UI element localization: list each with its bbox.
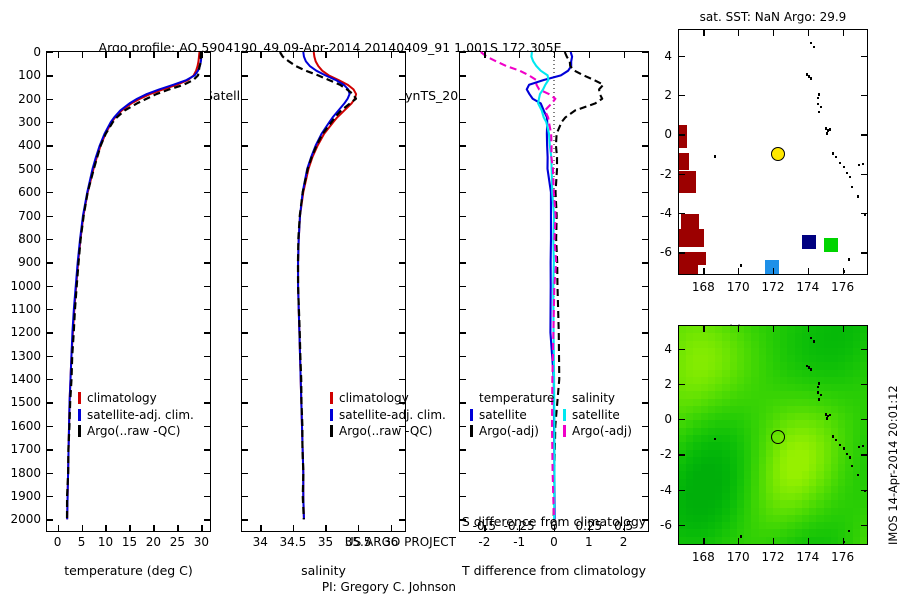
depth-tick bbox=[204, 496, 210, 497]
depth-tick bbox=[204, 356, 210, 357]
historical-profile-block bbox=[679, 229, 704, 248]
salinity-legend-item: climatology bbox=[330, 390, 446, 407]
depth-tick bbox=[460, 496, 466, 497]
depth-tick bbox=[460, 356, 466, 357]
salinity-legend-label: climatology bbox=[339, 390, 409, 407]
depth-tick bbox=[399, 496, 405, 497]
coastline-dot bbox=[858, 164, 860, 167]
depth-tick-label: 1300 bbox=[0, 350, 41, 362]
depth-tick-label: 1200 bbox=[0, 326, 41, 338]
depth-tick-label: 1800 bbox=[0, 467, 41, 479]
lon-tick bbox=[703, 30, 704, 36]
diff-temperature-legend-item: Argo(-adj) bbox=[470, 423, 554, 440]
depth-tick bbox=[47, 216, 53, 217]
depth-tick bbox=[204, 286, 210, 287]
depth-tick-label: 100 bbox=[0, 69, 41, 81]
current-float-marker[interactable] bbox=[771, 147, 785, 161]
depth-tick-label: 600 bbox=[0, 186, 41, 198]
depth-tick bbox=[242, 216, 248, 217]
lat-tick-label: 0 bbox=[644, 413, 672, 425]
lat-tick bbox=[861, 56, 867, 57]
depth-tick bbox=[242, 169, 248, 170]
depth-tick bbox=[399, 99, 405, 100]
depth-tick bbox=[242, 145, 248, 146]
depth-tick bbox=[460, 122, 466, 123]
depth-tick-label: 1100 bbox=[0, 303, 41, 315]
lat-tick-label: 2 bbox=[644, 89, 672, 101]
coastline-dot bbox=[848, 258, 850, 261]
x-tick bbox=[391, 52, 392, 58]
depth-tick bbox=[47, 426, 53, 427]
lat-tick bbox=[861, 174, 867, 175]
depth-tick-label: 300 bbox=[0, 116, 41, 128]
x-tick bbox=[177, 525, 178, 531]
coastline-dot bbox=[817, 386, 819, 389]
x-tick bbox=[105, 525, 106, 531]
depth-tick bbox=[242, 332, 248, 333]
timestamp-stamp: IMOS 14-Apr-2014 20:01:12 bbox=[886, 385, 900, 545]
depth-tick bbox=[47, 75, 53, 76]
depth-tick bbox=[642, 496, 648, 497]
x-tick bbox=[82, 525, 83, 531]
depth-tick-label: 1500 bbox=[0, 396, 41, 408]
depth-tick bbox=[242, 122, 248, 123]
depth-tick-label: 0 bbox=[0, 46, 41, 58]
depth-tick bbox=[242, 379, 248, 380]
coastline-dot bbox=[714, 155, 716, 158]
lat-tick-label: 2 bbox=[644, 378, 672, 390]
x-tick bbox=[105, 52, 106, 58]
diff-temperature-legend-header: temperature bbox=[470, 390, 554, 407]
depth-tick bbox=[460, 262, 466, 263]
difference-temperature-axis-title: T difference from climatology bbox=[459, 563, 649, 578]
depth-tick bbox=[642, 426, 648, 427]
depth-tick-label: 1600 bbox=[0, 420, 41, 432]
coastline-dot bbox=[839, 444, 841, 447]
depth-tick bbox=[460, 75, 466, 76]
x-tick bbox=[201, 52, 202, 58]
depth-tick bbox=[460, 309, 466, 310]
depth-tick bbox=[242, 426, 248, 427]
lat-tick-label: -2 bbox=[644, 448, 672, 460]
coastline-dot bbox=[858, 446, 860, 449]
credit-line-1: US ARGO PROJECT bbox=[246, 535, 456, 550]
depth-tick bbox=[399, 192, 405, 193]
diff-salinity-legend-label: satellite bbox=[572, 407, 620, 424]
depth-tick bbox=[47, 192, 53, 193]
depth-tick bbox=[47, 402, 53, 403]
depth-tick bbox=[460, 145, 466, 146]
depth-tick bbox=[642, 309, 648, 310]
depth-tick bbox=[399, 75, 405, 76]
lat-tick bbox=[679, 525, 685, 526]
coastline-dot bbox=[832, 435, 834, 438]
depth-tick bbox=[460, 473, 466, 474]
depth-tick bbox=[204, 262, 210, 263]
depth-tick bbox=[460, 99, 466, 100]
coastline-dot bbox=[846, 172, 848, 175]
x-tick bbox=[293, 52, 294, 58]
coastline-dot bbox=[829, 128, 831, 131]
depth-tick bbox=[399, 309, 405, 310]
lon-tick bbox=[703, 326, 704, 332]
depth-tick bbox=[204, 99, 210, 100]
diff-salinity-legend-header: salinity bbox=[563, 390, 632, 407]
coastline-dot bbox=[813, 46, 815, 49]
depth-tick bbox=[47, 122, 53, 123]
difference-curves bbox=[460, 52, 648, 531]
lon-tick bbox=[773, 30, 774, 36]
x-tick bbox=[554, 52, 555, 58]
lon-tick-label: 176 bbox=[818, 551, 868, 563]
coastline-dot bbox=[810, 77, 812, 80]
depth-tick bbox=[460, 286, 466, 287]
lat-tick bbox=[679, 454, 685, 455]
temperature-legend-label: Argo(..raw -QC) bbox=[87, 423, 180, 440]
lat-tick bbox=[679, 490, 685, 491]
depth-tick bbox=[242, 356, 248, 357]
depth-tick-label: 700 bbox=[0, 210, 41, 222]
lon-tick bbox=[843, 268, 844, 274]
depth-tick bbox=[642, 239, 648, 240]
salinity-curves bbox=[242, 52, 405, 531]
coastline-dot bbox=[843, 166, 845, 169]
depth-tick bbox=[242, 496, 248, 497]
lon-tick bbox=[808, 326, 809, 332]
float-marker-green[interactable] bbox=[824, 238, 838, 252]
depth-tick bbox=[642, 332, 648, 333]
legend-color-swatch bbox=[78, 409, 81, 421]
coastline-dot bbox=[818, 93, 820, 96]
x-tick bbox=[325, 52, 326, 58]
difference-salinity-legend: salinitysatelliteArgo(-adj) bbox=[563, 390, 632, 440]
historical-profile-block bbox=[679, 153, 689, 170]
x-tick bbox=[624, 52, 625, 58]
coastline-dot bbox=[843, 447, 845, 450]
coastline-dot bbox=[848, 530, 850, 533]
depth-tick bbox=[399, 473, 405, 474]
depth-tick-label: 2000 bbox=[0, 513, 41, 525]
coastline-dot bbox=[810, 368, 812, 371]
depth-tick bbox=[204, 52, 210, 53]
coastline-dot bbox=[857, 195, 859, 198]
depth-tick bbox=[642, 192, 648, 193]
depth-tick bbox=[399, 169, 405, 170]
lon-tick bbox=[703, 538, 704, 544]
lon-tick bbox=[738, 268, 739, 274]
depth-tick bbox=[642, 402, 648, 403]
lat-tick-label: -6 bbox=[644, 519, 672, 531]
lon-tick bbox=[843, 538, 844, 544]
coastline-dot bbox=[846, 453, 848, 456]
depth-tick-label: 200 bbox=[0, 93, 41, 105]
depth-tick bbox=[242, 99, 248, 100]
x-tick-label: 2 bbox=[594, 536, 654, 548]
lat-tick-label: -4 bbox=[644, 207, 672, 219]
depth-tick bbox=[47, 169, 53, 170]
temperature-legend: climatologysatellite-adj. clim.Argo(..ra… bbox=[78, 390, 194, 440]
x-tick bbox=[153, 52, 154, 58]
coastline-dot bbox=[829, 414, 831, 417]
x-tick bbox=[519, 52, 520, 58]
lat-tick bbox=[861, 454, 867, 455]
lon-tick-label: 176 bbox=[818, 281, 868, 293]
depth-tick bbox=[204, 519, 210, 520]
depth-tick bbox=[47, 519, 53, 520]
depth-tick bbox=[204, 309, 210, 310]
lat-tick bbox=[861, 525, 867, 526]
depth-tick bbox=[47, 262, 53, 263]
legend-color-swatch bbox=[563, 409, 566, 421]
temperature-axis-title: temperature (deg C) bbox=[46, 563, 211, 578]
x-tick bbox=[177, 52, 178, 58]
x-tick bbox=[201, 525, 202, 531]
depth-tick bbox=[47, 496, 53, 497]
depth-tick bbox=[399, 122, 405, 123]
depth-tick bbox=[204, 122, 210, 123]
sla-map[interactable] bbox=[678, 325, 868, 545]
difference-temperature-legend: temperaturesatelliteArgo(-adj) bbox=[470, 390, 554, 440]
historical-profile-block bbox=[679, 264, 697, 275]
depth-tick bbox=[399, 239, 405, 240]
historical-profile-block bbox=[679, 125, 686, 148]
lat-tick bbox=[861, 490, 867, 491]
depth-tick-label: 1700 bbox=[0, 443, 41, 455]
legend-color-swatch bbox=[563, 425, 566, 437]
lon-tick bbox=[808, 538, 809, 544]
coastline-dot bbox=[820, 106, 822, 109]
coastline-dot bbox=[818, 382, 820, 385]
depth-tick bbox=[460, 402, 466, 403]
sla-grid-cell bbox=[860, 537, 868, 545]
lon-tick bbox=[738, 30, 739, 36]
lon-tick bbox=[773, 538, 774, 544]
lon-tick bbox=[808, 268, 809, 274]
depth-tick bbox=[399, 356, 405, 357]
lon-tick bbox=[843, 30, 844, 36]
depth-tick bbox=[204, 332, 210, 333]
lat-tick bbox=[679, 174, 685, 175]
lat-tick bbox=[679, 419, 685, 420]
salinity-legend-label: satellite-adj. clim. bbox=[339, 407, 446, 424]
coastline-dot bbox=[818, 398, 820, 401]
temperature-legend-item: climatology bbox=[78, 390, 194, 407]
depth-tick bbox=[204, 145, 210, 146]
depth-tick bbox=[47, 309, 53, 310]
depth-tick bbox=[642, 473, 648, 474]
lat-tick-label: -2 bbox=[644, 168, 672, 180]
float-marker-navy[interactable] bbox=[802, 235, 816, 249]
coastline-dot bbox=[835, 439, 837, 442]
depth-tick bbox=[204, 75, 210, 76]
depth-tick bbox=[47, 286, 53, 287]
depth-tick bbox=[242, 262, 248, 263]
coastline-dot bbox=[813, 340, 815, 343]
coastline-dot bbox=[851, 186, 853, 189]
lat-tick bbox=[861, 349, 867, 350]
salinity-legend-item: Argo(..raw -QC) bbox=[330, 423, 446, 440]
depth-tick bbox=[47, 356, 53, 357]
depth-tick bbox=[642, 262, 648, 263]
depth-tick bbox=[460, 216, 466, 217]
depth-tick bbox=[460, 332, 466, 333]
lat-tick bbox=[861, 134, 867, 135]
coastline-dot bbox=[817, 97, 819, 100]
lat-tick bbox=[679, 384, 685, 385]
depth-tick bbox=[242, 286, 248, 287]
lat-tick bbox=[861, 213, 867, 214]
diff-salinity-legend-item: satellite bbox=[563, 407, 632, 424]
depth-tick bbox=[242, 309, 248, 310]
x-tick bbox=[58, 52, 59, 58]
lat-tick-label: 0 bbox=[644, 128, 672, 140]
diff-salinity-legend-item: Argo(-adj) bbox=[563, 423, 632, 440]
depth-tick bbox=[242, 402, 248, 403]
coastline-dot bbox=[849, 176, 851, 179]
legend-color-swatch bbox=[470, 425, 473, 437]
lon-tick bbox=[738, 538, 739, 544]
depth-tick bbox=[642, 356, 648, 357]
x-tick bbox=[129, 52, 130, 58]
lat-tick bbox=[861, 419, 867, 420]
coastline-dot bbox=[832, 152, 834, 155]
historical-profile-block bbox=[679, 252, 706, 264]
legend-color-swatch bbox=[330, 409, 333, 421]
salinity-legend-item: satellite-adj. clim. bbox=[330, 407, 446, 424]
depth-tick bbox=[204, 473, 210, 474]
diff-temperature-legend-label: Argo(-adj) bbox=[479, 423, 539, 440]
coastline-dot bbox=[826, 132, 828, 135]
coastline-dot bbox=[740, 535, 742, 538]
depth-tick bbox=[399, 379, 405, 380]
depth-tick bbox=[399, 332, 405, 333]
difference-profile-plot bbox=[459, 51, 649, 532]
lat-tick bbox=[861, 384, 867, 385]
x-tick bbox=[153, 525, 154, 531]
lon-tick bbox=[773, 326, 774, 332]
depth-tick bbox=[204, 402, 210, 403]
depth-tick bbox=[47, 379, 53, 380]
depth-tick bbox=[242, 75, 248, 76]
project-credit: US ARGO PROJECT PI: Gregory C. Johnson bbox=[246, 505, 456, 610]
depth-tick bbox=[47, 52, 53, 53]
depth-tick bbox=[204, 169, 210, 170]
lat-tick-label: -6 bbox=[644, 246, 672, 258]
depth-tick bbox=[204, 239, 210, 240]
x-tick bbox=[484, 52, 485, 58]
legend-color-swatch bbox=[330, 392, 333, 404]
lon-tick bbox=[703, 268, 704, 274]
diff-temperature-legend-item: satellite bbox=[470, 407, 554, 424]
depth-tick bbox=[460, 239, 466, 240]
depth-tick bbox=[460, 52, 466, 53]
depth-tick-label: 1900 bbox=[0, 490, 41, 502]
depth-tick bbox=[642, 75, 648, 76]
x-tick-label: 30 bbox=[171, 536, 231, 548]
depth-tick bbox=[47, 99, 53, 100]
x-tick bbox=[82, 52, 83, 58]
depth-tick bbox=[204, 426, 210, 427]
lon-tick bbox=[808, 30, 809, 36]
current-float-marker[interactable] bbox=[771, 430, 785, 444]
depth-tick bbox=[399, 52, 405, 53]
temperature-curves bbox=[47, 52, 210, 531]
lat-tick bbox=[679, 95, 685, 96]
salinity-legend: climatologysatellite-adj. clim.Argo(..ra… bbox=[330, 390, 446, 440]
lat-tick bbox=[679, 56, 685, 57]
depth-tick bbox=[47, 473, 53, 474]
depth-tick bbox=[47, 332, 53, 333]
diff-salinity-legend-label: Argo(-adj) bbox=[572, 423, 632, 440]
temperature-legend-item: Argo(..raw -QC) bbox=[78, 423, 194, 440]
temperature-legend-label: climatology bbox=[87, 390, 157, 407]
depth-tick-label: 1400 bbox=[0, 373, 41, 385]
depth-tick bbox=[204, 216, 210, 217]
salinity-legend-label: Argo(..raw -QC) bbox=[339, 423, 432, 440]
temperature-profile-plot bbox=[46, 51, 211, 532]
temperature-legend-item: satellite-adj. clim. bbox=[78, 407, 194, 424]
legend-color-swatch bbox=[330, 425, 333, 437]
lat-tick-label: 4 bbox=[644, 343, 672, 355]
coastline-dot bbox=[857, 474, 859, 477]
depth-tick-label: 500 bbox=[0, 163, 41, 175]
coastline-dot bbox=[835, 156, 837, 159]
legend-color-swatch bbox=[78, 392, 81, 404]
depth-tick bbox=[460, 426, 466, 427]
depth-tick bbox=[204, 379, 210, 380]
sst-map-title: sat. SST: NaN Argo: 29.9 bbox=[678, 10, 868, 25]
depth-tick bbox=[204, 192, 210, 193]
coastline-dot bbox=[849, 456, 851, 459]
depth-tick-label: 1000 bbox=[0, 280, 41, 292]
depth-tick bbox=[399, 262, 405, 263]
depth-tick-label: 800 bbox=[0, 233, 41, 245]
lat-tick-label: 4 bbox=[644, 50, 672, 62]
depth-tick bbox=[399, 286, 405, 287]
depth-tick bbox=[242, 239, 248, 240]
depth-tick bbox=[642, 286, 648, 287]
legend-color-swatch bbox=[470, 409, 473, 421]
lon-tick bbox=[773, 268, 774, 274]
depth-tick bbox=[47, 239, 53, 240]
difference-salinity-axis-title: S difference from climatology bbox=[459, 514, 649, 529]
legend-color-swatch bbox=[78, 425, 81, 437]
depth-tick bbox=[242, 449, 248, 450]
coastline-dot bbox=[839, 162, 841, 165]
x-tick bbox=[589, 52, 590, 58]
depth-tick-label: 900 bbox=[0, 256, 41, 268]
coastline-dot bbox=[810, 337, 812, 340]
lat-tick bbox=[679, 213, 685, 214]
coastline-dot bbox=[820, 394, 822, 397]
coastline-dot bbox=[810, 42, 812, 45]
lat-tick bbox=[861, 252, 867, 253]
depth-tick bbox=[399, 145, 405, 146]
lat-tick bbox=[679, 252, 685, 253]
depth-tick bbox=[460, 169, 466, 170]
lat-tick bbox=[679, 349, 685, 350]
historical-profile-block bbox=[681, 214, 699, 229]
temperature-legend-label: satellite-adj. clim. bbox=[87, 407, 194, 424]
lat-tick bbox=[861, 95, 867, 96]
depth-tick bbox=[242, 192, 248, 193]
coastline-dot bbox=[862, 445, 864, 448]
sst-map[interactable] bbox=[678, 29, 868, 275]
depth-tick bbox=[460, 449, 466, 450]
coastline-dot bbox=[826, 417, 828, 420]
depth-tick bbox=[47, 449, 53, 450]
lat-tick-label: -4 bbox=[644, 484, 672, 496]
